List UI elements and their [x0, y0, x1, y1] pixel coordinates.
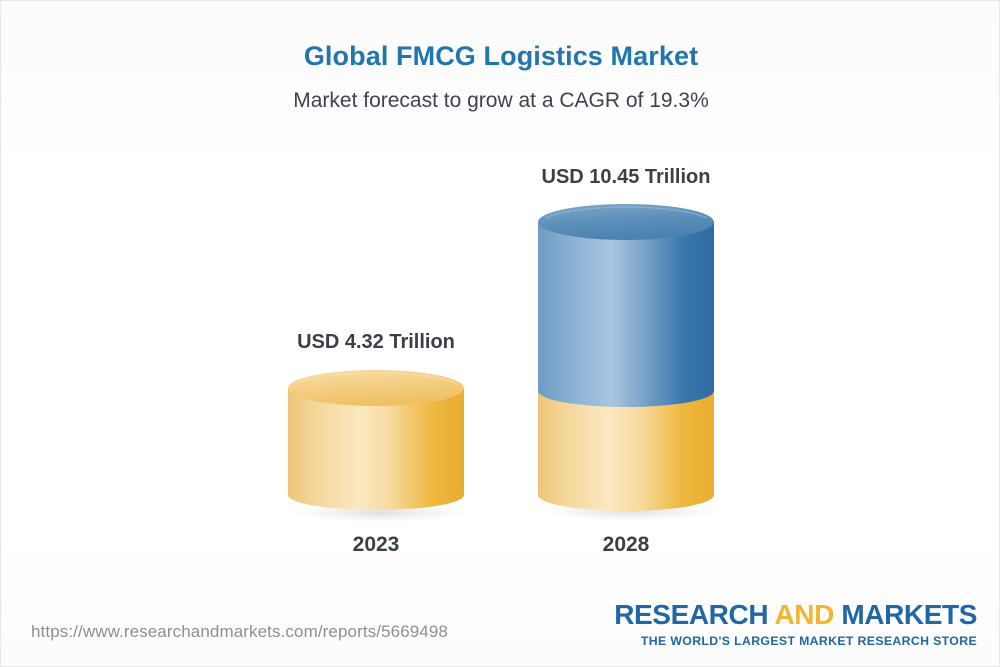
brand-logo[interactable]: RESEARCH AND MARKETS THE WORLD'S LARGEST… [614, 601, 977, 647]
brand-logo-research: RESEARCH [614, 599, 768, 630]
brand-logo-wordmark: RESEARCH AND MARKETS [614, 601, 977, 629]
chart-canvas: Global FMCG Logistics Market Market fore… [0, 0, 1000, 667]
bar-cylinder-2028 [535, 201, 717, 521]
value-label-2028: USD 10.45 Trillion [501, 166, 751, 189]
category-label-2028: 2028 [501, 533, 751, 557]
brand-logo-markets: MARKETS [841, 599, 977, 630]
value-label-2023: USD 4.32 Trillion [251, 331, 501, 354]
page-subtitle: Market forecast to grow at a CAGR of 19.… [1, 89, 1000, 113]
source-url[interactable]: https://www.researchandmarkets.com/repor… [31, 622, 448, 642]
category-label-2023: 2023 [251, 533, 501, 557]
brand-logo-and: AND [774, 599, 833, 630]
page-title: Global FMCG Logistics Market [1, 41, 1000, 72]
bar-cylinder-2023 [285, 367, 467, 522]
brand-logo-tagline: THE WORLD'S LARGEST MARKET RESEARCH STOR… [614, 635, 977, 647]
